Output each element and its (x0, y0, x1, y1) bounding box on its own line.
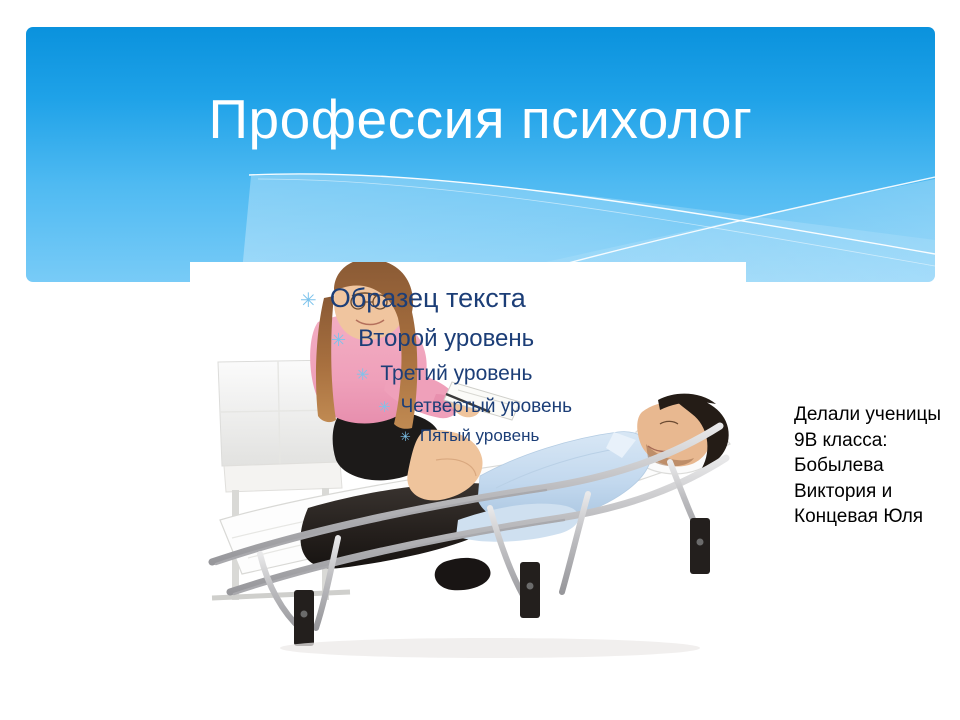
slide-title: Профессия психолог (26, 89, 935, 149)
bullet-label-level-1: Образец текста (330, 278, 526, 318)
bullet-item-level-2: ✳ Второй уровень (300, 321, 720, 358)
bullet-label-level-5: Пятый уровень (420, 422, 539, 449)
authors-credit-text: Делали ученицы 9В класса: Бобылева Викто… (794, 402, 946, 530)
presentation-slide: Профессия психолог (0, 0, 960, 720)
bullet-label-level-4: Четвертый уровень (401, 392, 572, 421)
asterisk-bullet-icon: ✳ (331, 322, 358, 358)
bullet-label-level-3: Третий уровень (380, 358, 532, 390)
asterisk-bullet-icon: ✳ (378, 393, 401, 422)
asterisk-bullet-icon: ✳ (356, 360, 380, 392)
bullet-item-level-5: ✳ Пятый уровень (300, 422, 720, 450)
bullet-item-level-3: ✳ Третий уровень (300, 358, 720, 392)
bullet-list: ✳ Образец текста ✳ Второй уровень ✳ Трет… (300, 278, 720, 450)
banner-swoosh-decoration (26, 27, 935, 282)
bullet-label-level-2: Второй уровень (358, 321, 534, 357)
title-banner: Профессия психолог (26, 27, 935, 282)
bullet-item-level-1: ✳ Образец текста (300, 278, 720, 321)
asterisk-bullet-icon: ✳ (400, 423, 420, 450)
bullet-item-level-4: ✳ Четвертый уровень (300, 392, 720, 422)
asterisk-bullet-icon: ✳ (300, 281, 330, 321)
